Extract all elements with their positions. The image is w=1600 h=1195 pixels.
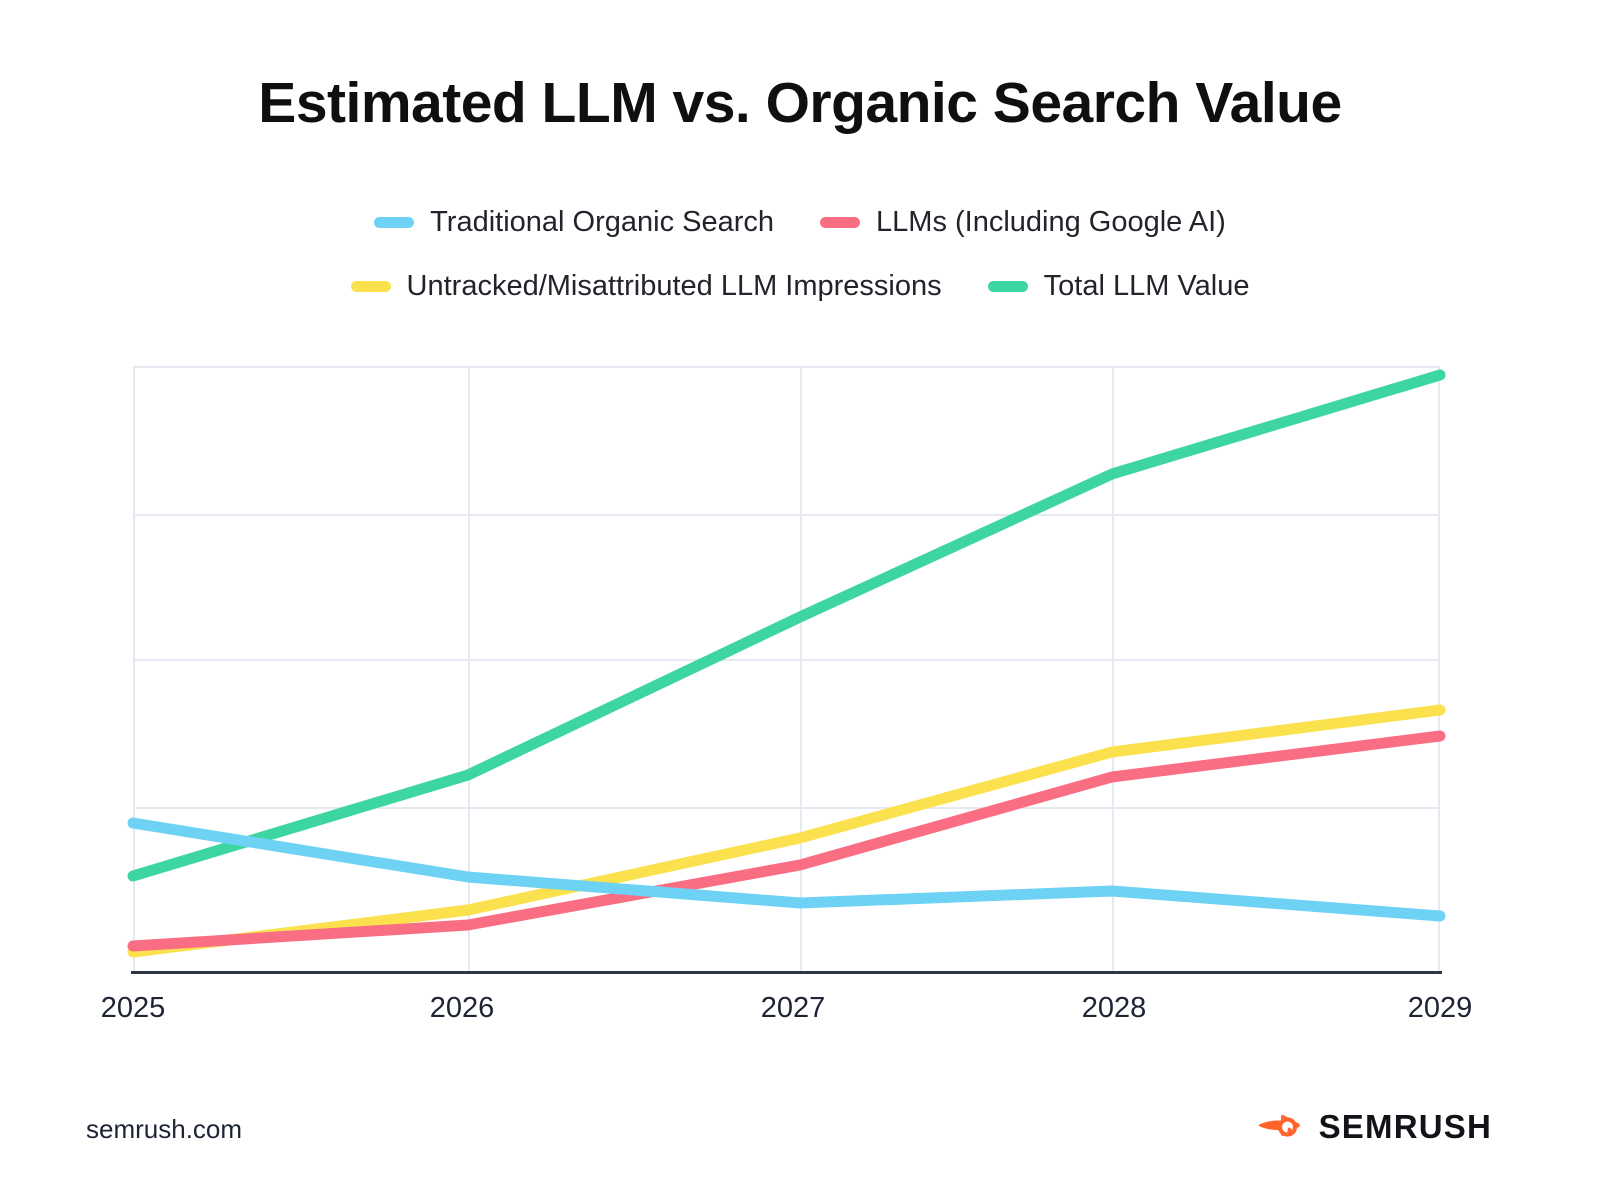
legend-label-traditional-organic-search: Traditional Organic Search [430,206,774,239]
semrush-comet-icon [1257,1107,1303,1147]
legend-swatch-icon-untracked-misattributed [351,281,391,292]
x-tick-label-2025: 2025 [101,992,166,1025]
legend-label-llms-including-google-ai: LLMs (Including Google AI) [876,206,1226,239]
legend-label-total-llm-value: Total LLM Value [1044,270,1250,303]
semrush-brand-logo: SEMRUSH [1257,1107,1492,1147]
x-tick-label-2026: 2026 [430,992,495,1025]
series-line-untracked-misattributed[interactable] [133,710,1440,952]
legend-item-untracked-misattributed[interactable]: Untracked/Misattributed LLM Impressions [351,270,942,303]
legend-row-1: Traditional Organic Search LLMs (Includi… [0,200,1600,244]
x-tick-label-2027: 2027 [761,992,826,1025]
x-axis-labels: 2025 2026 2027 2028 2029 [0,992,1600,1032]
semrush-wordmark: SEMRUSH [1319,1108,1492,1146]
legend-swatch-icon-llms-including-google-ai [820,217,860,228]
chart-plot-area [133,366,1440,973]
legend-label-untracked-misattributed: Untracked/Misattributed LLM Impressions [407,270,942,303]
footer-site-url: semrush.com [86,1114,242,1145]
x-tick-label-2028: 2028 [1082,992,1147,1025]
series-line-total-llm-value[interactable] [133,375,1440,876]
legend-swatch-icon-total-llm-value [988,281,1028,292]
legend-item-llms-including-google-ai[interactable]: LLMs (Including Google AI) [820,206,1226,239]
page-title: Estimated LLM vs. Organic Search Value [0,72,1600,135]
x-tick-label-2029: 2029 [1408,992,1473,1025]
chart-page: Estimated LLM vs. Organic Search Value T… [0,0,1600,1195]
x-axis-line [131,971,1442,974]
legend-row-2: Untracked/Misattributed LLM Impressions … [0,264,1600,308]
chart-legend: Traditional Organic Search LLMs (Includi… [0,200,1600,308]
legend-item-traditional-organic-search[interactable]: Traditional Organic Search [374,206,774,239]
series-canvas [133,366,1440,973]
legend-item-total-llm-value[interactable]: Total LLM Value [988,270,1250,303]
legend-swatch-icon-traditional-organic-search [374,217,414,228]
